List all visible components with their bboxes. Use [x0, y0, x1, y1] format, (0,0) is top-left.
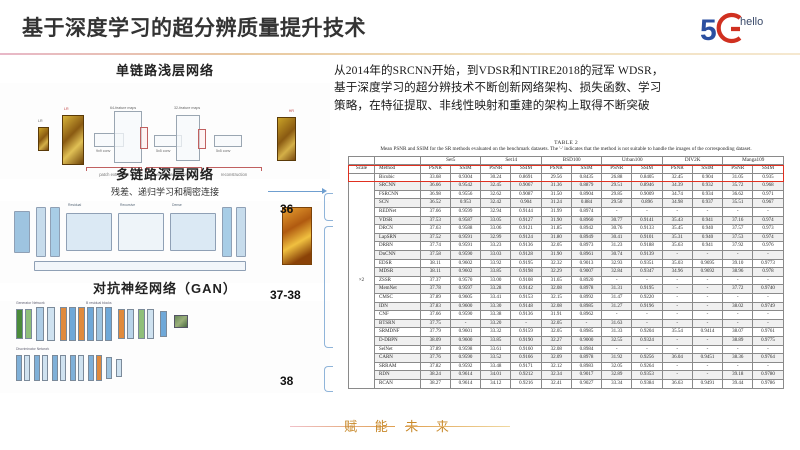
- value-cell: 0.9347: [632, 268, 663, 277]
- value-cell: 37.74: [421, 242, 451, 251]
- value-cell: 0.941: [692, 242, 723, 251]
- value-cell: 37.57: [723, 225, 753, 234]
- value-cell: 0.9591: [450, 242, 481, 251]
- value-cell: 31.24: [541, 199, 571, 208]
- paragraph-line-1: 从2014年的SRCNN开始，到VDSR和NTIRE2018的冠军 WDSR，: [334, 62, 796, 79]
- value-cell: 0.9590: [450, 251, 481, 260]
- value-cell: 32.99: [481, 233, 511, 242]
- value-cell: 0.940: [692, 233, 723, 242]
- value-cell: 0.937: [692, 199, 723, 208]
- table-row: ×2Bicubic33.680.930430.240.869129.560.84…: [349, 173, 784, 182]
- value-cell: 0.953: [450, 199, 481, 208]
- value-cell: 0.9351: [632, 259, 663, 268]
- header-div2k-psnr: PSNR: [662, 165, 692, 174]
- value-cell: 0.9749: [753, 302, 784, 311]
- value-cell: 33.38: [481, 311, 511, 320]
- value-cell: 32.15: [541, 294, 571, 303]
- method-cell: EDSR: [375, 259, 421, 268]
- gan-d-bar-9: [88, 355, 94, 381]
- value-cell: 0.9692: [692, 268, 723, 277]
- value-cell: 29.56: [541, 173, 571, 182]
- value-cell: 26.88: [602, 173, 632, 182]
- value-cell: 33.30: [481, 302, 511, 311]
- value-cell: 0.9144: [511, 208, 542, 217]
- value-cell: 32.93: [602, 259, 632, 268]
- value-cell: 31.47: [602, 294, 632, 303]
- value-cell: 37.16: [723, 216, 753, 225]
- table-header-metrics: ScaleMethodPSNRSSIMPSNRSSIMPSNRSSIMPSNRS…: [349, 165, 784, 174]
- value-cell: 30.74: [602, 251, 632, 260]
- method-cell: SelNet: [375, 345, 421, 354]
- value-cell: 0.971: [753, 190, 784, 199]
- value-cell: -: [602, 311, 632, 320]
- value-cell: 33.52: [481, 354, 511, 363]
- value-cell: 33.20: [481, 319, 511, 328]
- value-cell: 0.9139: [632, 251, 663, 260]
- value-cell: 35.43: [662, 216, 692, 225]
- value-cell: 0.9587: [450, 216, 481, 225]
- value-cell: 30.76: [602, 225, 632, 234]
- method-cell: IDN: [375, 302, 421, 311]
- header-set14-ssim: SSIM: [511, 165, 542, 174]
- gan-g-bar-14: [147, 309, 154, 339]
- value-cell: -: [662, 294, 692, 303]
- value-cell: 0.8974: [571, 208, 602, 217]
- value-cell: 0.9304: [450, 173, 481, 182]
- value-cell: 37.58: [421, 251, 451, 260]
- value-cell: 0.8983: [571, 362, 602, 371]
- header-manga109-ssim: SSIM: [753, 165, 784, 174]
- paragraph-line-3: 策略，在特征提取、非线性映射和重建的架构上取得不断突破: [334, 97, 796, 114]
- deep-dense-label: Dense: [172, 203, 182, 207]
- value-cell: 38.11: [421, 268, 451, 277]
- scale-cell: ×2: [349, 173, 375, 388]
- value-cell: 0.8904: [571, 190, 602, 199]
- value-cell: 0.9216: [511, 379, 542, 388]
- value-cell: 0.9128: [511, 251, 542, 260]
- paragraph-line-2: 基于深度学习的超分辨技术不断创新网络架构、损失函数、学习: [334, 79, 796, 96]
- value-cell: -: [723, 276, 753, 285]
- value-cell: 0.8962: [571, 311, 602, 320]
- deep-conv-b: [50, 207, 60, 257]
- value-cell: 0.8946: [632, 182, 663, 191]
- value-cell: 32.12: [541, 362, 571, 371]
- value-cell: 0.978: [753, 268, 784, 277]
- value-cell: 0.9591: [450, 233, 481, 242]
- table-row: FSRCNN36.980.955632.620.908731.500.89042…: [349, 190, 784, 199]
- value-cell: 37.66: [421, 311, 451, 320]
- header-set14-psnr: PSNR: [481, 165, 511, 174]
- value-cell: 0.9384: [632, 379, 663, 388]
- value-cell: 34.39: [662, 182, 692, 191]
- value-cell: 32.55: [602, 336, 632, 345]
- value-cell: -: [632, 345, 663, 354]
- footer-line-right: [405, 426, 510, 427]
- value-cell: 32.05: [602, 362, 632, 371]
- gan-generated-image: [174, 315, 188, 328]
- value-cell: 31.90: [541, 251, 571, 260]
- value-cell: 32.27: [541, 336, 571, 345]
- value-cell: 0.9570: [450, 276, 481, 285]
- value-cell: 0.9597: [450, 285, 481, 294]
- value-cell: 32.32: [541, 259, 571, 268]
- value-cell: -: [632, 311, 663, 320]
- gan-d-bar-8: [78, 355, 84, 381]
- value-cell: 0.8435: [571, 173, 602, 182]
- value-cell: 0.9451: [692, 354, 723, 363]
- value-cell: 0.932: [692, 182, 723, 191]
- value-cell: 0.9605: [450, 294, 481, 303]
- gan-g-bar-5: [60, 307, 67, 341]
- value-cell: -: [662, 276, 692, 285]
- header-manga109-psnr: PSNR: [723, 165, 753, 174]
- table-header-datasets: Set5Set14BSD100Urban100DIV2KManga109: [349, 156, 784, 165]
- header-bsd100-ssim: SSIM: [571, 165, 602, 174]
- gan-g-bar-8: [87, 307, 94, 341]
- method-cell: DRRN: [375, 242, 421, 251]
- slide-header: 基于深度学习的超分辨质量提升技术 5 hello: [0, 0, 800, 54]
- value-cell: 0.8879: [571, 182, 602, 191]
- value-cell: 0.8949: [571, 233, 602, 242]
- value-cell: -: [723, 362, 753, 371]
- value-cell: 35.45: [662, 225, 692, 234]
- intro-paragraph: 从2014年的SRCNN开始，到VDSR和NTIRE2018的冠军 WDSR， …: [334, 62, 796, 114]
- value-cell: 37.83: [421, 302, 451, 311]
- value-cell: 0.8985: [571, 302, 602, 311]
- value-cell: 0.9764: [753, 354, 784, 363]
- gan-g-bar-2: [25, 309, 32, 339]
- value-cell: -: [662, 311, 692, 320]
- value-cell: 34.96: [662, 268, 692, 277]
- table-row: D-DBPN38.090.960033.850.919032.270.90003…: [349, 336, 784, 345]
- value-cell: 35.51: [723, 199, 753, 208]
- deep-input-block: [14, 211, 30, 253]
- value-cell: 31.05: [723, 173, 753, 182]
- value-cell: 37.52: [421, 233, 451, 242]
- value-cell: 31.33: [602, 328, 632, 337]
- value-cell: 38.36: [723, 354, 753, 363]
- value-cell: 31.63: [602, 319, 632, 328]
- value-cell: 0.9780: [753, 371, 784, 380]
- value-cell: 31.27: [602, 302, 632, 311]
- value-cell: 33.34: [602, 379, 632, 388]
- pointer-line-bicubic: [268, 191, 322, 192]
- header-dataset-manga109: Manga109: [723, 156, 784, 165]
- value-cell: 32.41: [541, 379, 571, 388]
- value-cell: 33.68: [421, 173, 451, 182]
- gan-d-bar-10: [96, 355, 102, 381]
- value-cell: 0.9171: [511, 362, 542, 371]
- table-row: MDSR38.110.960233.850.919832.290.900732.…: [349, 268, 784, 277]
- value-cell: 0.9136: [511, 311, 542, 320]
- deep-recursive-group: [118, 213, 164, 251]
- value-cell: -: [753, 294, 784, 303]
- value-cell: 34.12: [481, 379, 511, 388]
- value-cell: 0.8992: [571, 294, 602, 303]
- value-cell: 0.9588: [450, 225, 481, 234]
- srcnn-lr-tag: LR: [64, 107, 69, 111]
- gan-generator-label: Generator Network: [16, 301, 45, 305]
- annotation-bracket-37-38: [324, 226, 333, 348]
- annotation-label-37-38: 37-38: [270, 288, 301, 302]
- value-cell: 33.41: [481, 294, 511, 303]
- value-cell: 31.92: [602, 354, 632, 363]
- table-row: RDN38.240.961434.010.921232.340.901732.8…: [349, 371, 784, 380]
- value-cell: 38.89: [723, 336, 753, 345]
- method-cell: CARN: [375, 354, 421, 363]
- value-cell: 32.09: [541, 354, 571, 363]
- paper-table-figure: TABLE 2 Mean PSNR and SSIM for the SR me…: [334, 140, 798, 402]
- value-cell: -: [692, 345, 723, 354]
- value-cell: 33.85: [481, 268, 511, 277]
- table-row: MemNet37.780.959733.280.914232.080.89783…: [349, 285, 784, 294]
- annotation-bracket-36: [324, 193, 333, 221]
- value-cell: 0.9773: [753, 259, 784, 268]
- table-row: SRCNN36.660.954232.450.906731.360.887929…: [349, 182, 784, 191]
- value-cell: 0.9195: [511, 259, 542, 268]
- value-cell: 0.9324: [632, 336, 663, 345]
- value-cell: -: [602, 276, 632, 285]
- value-cell: 37.76: [421, 354, 451, 363]
- value-cell: 32.45: [662, 173, 692, 182]
- value-cell: 33.32: [481, 328, 511, 337]
- value-cell: 37.75: [421, 319, 451, 328]
- srcnn-featuremap2: [176, 115, 200, 161]
- value-cell: -: [723, 294, 753, 303]
- value-cell: -: [692, 276, 723, 285]
- value-cell: 0.8405: [632, 173, 663, 182]
- table-row: SelNet37.890.959833.610.916032.080.8984-…: [349, 345, 784, 354]
- value-cell: -: [753, 319, 784, 328]
- method-cell: BTSRN: [375, 319, 421, 328]
- header-scale: Scale: [349, 165, 375, 174]
- value-cell: 32.05: [541, 242, 571, 251]
- value-cell: 35.54: [662, 328, 692, 337]
- value-cell: 36.52: [421, 199, 451, 208]
- header-set5-psnr: PSNR: [421, 165, 451, 174]
- value-cell: 0.9000: [571, 336, 602, 345]
- value-cell: 0.9190: [511, 336, 542, 345]
- header-dataset-set14: Set14: [481, 156, 541, 165]
- method-cell: SRRAM: [375, 362, 421, 371]
- value-cell: 37.79: [421, 328, 451, 337]
- value-cell: 33.85: [481, 336, 511, 345]
- value-cell: 31.99: [541, 208, 571, 217]
- value-cell: 0.9027: [571, 379, 602, 388]
- value-cell: 32.05: [541, 319, 571, 328]
- slide-footer: 赋 能 未 来: [0, 414, 800, 440]
- value-cell: 31.65: [541, 276, 571, 285]
- table-row: BTSRN37.75-33.20-32.05-31.63-----: [349, 319, 784, 328]
- gan-discriminator-label: Discriminator Network: [16, 347, 49, 351]
- value-cell: -: [692, 371, 723, 380]
- table-row: DnCNN37.580.959033.030.912831.900.896130…: [349, 251, 784, 260]
- value-cell: -: [602, 345, 632, 354]
- value-cell: 0.9124: [511, 233, 542, 242]
- value-cell: 0.9127: [511, 216, 542, 225]
- gan-d-bar-11: [106, 357, 112, 379]
- value-cell: 31.90: [541, 216, 571, 225]
- value-cell: 0.8691: [511, 173, 542, 182]
- value-cell: 38.09: [421, 336, 451, 345]
- value-cell: 31.31: [602, 285, 632, 294]
- value-cell: -: [692, 311, 723, 320]
- srcnn-kernel2: [198, 129, 206, 149]
- value-cell: 0.9542: [450, 182, 481, 191]
- value-cell: 37.66: [421, 208, 451, 217]
- value-cell: 0.9159: [511, 328, 542, 337]
- value-cell: 0.904: [692, 173, 723, 182]
- table-row: LapSRN37.520.959132.990.912431.800.89493…: [349, 233, 784, 242]
- value-cell: -: [753, 362, 784, 371]
- value-cell: 32.08: [541, 285, 571, 294]
- method-cell: FSRCNN: [375, 190, 421, 199]
- header-method: Method: [375, 165, 421, 174]
- value-cell: 34.74: [662, 190, 692, 199]
- value-cell: 0.9600: [450, 336, 481, 345]
- value-cell: 31.36: [541, 182, 571, 191]
- table-row: ZSSR37.370.957033.000.910831.650.8920---…: [349, 276, 784, 285]
- value-cell: 38.96: [723, 268, 753, 277]
- value-cell: -: [632, 319, 663, 328]
- header-bsd100-psnr: PSNR: [541, 165, 571, 174]
- value-cell: 37.78: [421, 285, 451, 294]
- method-cell: Bicubic: [375, 173, 421, 182]
- value-cell: -: [753, 311, 784, 320]
- value-cell: -: [692, 208, 723, 217]
- value-cell: 0.941: [692, 216, 723, 225]
- value-cell: 38.07: [723, 328, 753, 337]
- gan-d-bar-5: [52, 355, 58, 381]
- value-cell: 0.973: [753, 225, 784, 234]
- gan-d-bar-7: [70, 355, 76, 381]
- table-row: EDSR38.110.960233.920.919532.320.901332.…: [349, 259, 784, 268]
- value-cell: 0.8920: [571, 276, 602, 285]
- page-title: 基于深度学习的超分辨质量提升技术: [22, 12, 366, 42]
- gan-g-bar-11: [118, 309, 125, 339]
- table-row: REDNet37.660.959932.940.914431.990.8974-…: [349, 208, 784, 217]
- header-urban100-psnr: PSNR: [602, 165, 632, 174]
- value-cell: 0.9009: [632, 190, 663, 199]
- value-cell: 33.00: [481, 276, 511, 285]
- gan-g-bar-3: [36, 307, 44, 341]
- method-cell: REDNet: [375, 208, 421, 217]
- value-cell: -: [692, 302, 723, 311]
- value-cell: 0.935: [753, 173, 784, 182]
- value-cell: 0.976: [753, 242, 784, 251]
- value-cell: 32.34: [541, 371, 571, 380]
- value-cell: 0.9599: [450, 208, 481, 217]
- value-cell: 0.9108: [511, 276, 542, 285]
- value-cell: -: [662, 302, 692, 311]
- value-cell: 0.9556: [450, 190, 481, 199]
- header-dataset-div2k: DIV2K: [662, 156, 722, 165]
- value-cell: 0.9196: [632, 302, 663, 311]
- gan-d-bar-3: [34, 355, 40, 381]
- deep-conv-d: [236, 207, 246, 257]
- value-cell: -: [662, 371, 692, 380]
- value-cell: 37.82: [421, 362, 451, 371]
- value-cell: -: [662, 208, 692, 217]
- value-cell: 0.9601: [450, 328, 481, 337]
- gan-g-bar-12: [127, 309, 134, 339]
- value-cell: -: [692, 362, 723, 371]
- value-cell: -: [692, 285, 723, 294]
- header-divider: [0, 53, 800, 55]
- value-cell: 38.11: [421, 259, 451, 268]
- srcnn-input-image: [38, 127, 49, 151]
- value-cell: 36.66: [421, 182, 451, 191]
- method-cell: DnCNN: [375, 251, 421, 260]
- value-cell: 32.08: [541, 345, 571, 354]
- table-row: DRRN37.740.959133.230.913632.050.897331.…: [349, 242, 784, 251]
- srcnn-feature1-label: 64-feature maps: [110, 106, 136, 110]
- value-cell: 39.10: [723, 259, 753, 268]
- value-cell: -: [723, 311, 753, 320]
- svg-text:5: 5: [700, 14, 717, 47]
- value-cell: 38.02: [723, 302, 753, 311]
- table-row: VDSR37.530.958733.050.912731.900.896030.…: [349, 216, 784, 225]
- deep-dense-group: [170, 213, 216, 251]
- value-cell: 37.89: [421, 345, 451, 354]
- gan-resblocks-label: B residual blocks: [86, 301, 112, 305]
- value-cell: 32.84: [602, 268, 632, 277]
- value-cell: 0.9220: [632, 294, 663, 303]
- value-cell: -: [723, 319, 753, 328]
- value-cell: -: [662, 362, 692, 371]
- method-cell: MDSR: [375, 268, 421, 277]
- value-cell: 32.94: [481, 208, 511, 217]
- value-cell: 32.08: [541, 302, 571, 311]
- value-cell: 36.04: [662, 354, 692, 363]
- value-cell: -: [753, 276, 784, 285]
- value-cell: 0.9013: [571, 259, 602, 268]
- value-cell: 0.9695: [692, 259, 723, 268]
- value-cell: 37.92: [723, 242, 753, 251]
- value-cell: 0.9198: [511, 268, 542, 277]
- value-cell: 39.44: [723, 379, 753, 388]
- value-cell: 0.9067: [511, 182, 542, 191]
- value-cell: 38.27: [421, 379, 451, 388]
- table-row: SCN36.520.95332.420.90431.240.88429.500.…: [349, 199, 784, 208]
- value-cell: 35.31: [662, 233, 692, 242]
- value-cell: -: [450, 319, 481, 328]
- method-cell: SRCNN: [375, 182, 421, 191]
- method-cell: ZSSR: [375, 276, 421, 285]
- value-cell: 33.48: [481, 362, 511, 371]
- value-cell: 0.9256: [632, 354, 663, 363]
- value-cell: 0.8984: [571, 345, 602, 354]
- srcnn-kernel1: [140, 127, 148, 149]
- deep-residual-group: [66, 213, 112, 251]
- value-cell: 0.9160: [511, 345, 542, 354]
- deep-residual-label: Residual: [68, 203, 81, 207]
- value-cell: 37.53: [421, 216, 451, 225]
- value-cell: 0.974: [753, 233, 784, 242]
- table-row: DRCN37.630.958833.060.912131.850.894230.…: [349, 225, 784, 234]
- value-cell: -: [692, 336, 723, 345]
- value-cell: 33.92: [481, 259, 511, 268]
- value-cell: 37.63: [421, 225, 451, 234]
- value-cell: 0.8960: [571, 216, 602, 225]
- value-cell: 32.42: [481, 199, 511, 208]
- gan-d-bar-12: [116, 359, 122, 377]
- value-cell: 0.8978: [571, 354, 602, 363]
- method-cell: CMSC: [375, 294, 421, 303]
- value-cell: 0.904: [511, 199, 542, 208]
- value-cell: 0.9740: [753, 285, 784, 294]
- header-spacer-scale: [349, 156, 375, 165]
